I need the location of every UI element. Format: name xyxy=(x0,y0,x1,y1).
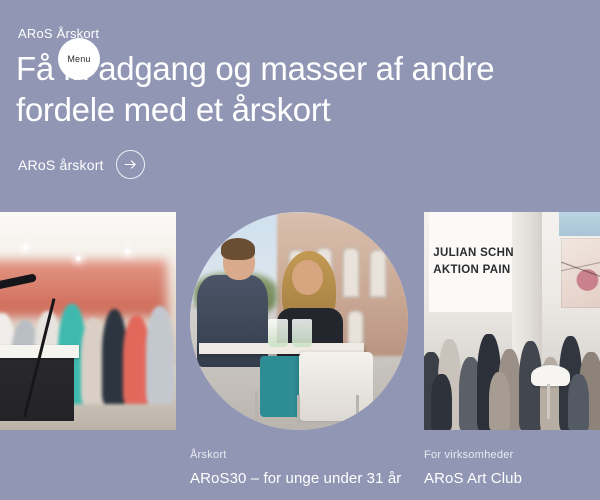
card-title[interactable]: årskort xyxy=(0,472,176,493)
card-strip: årskort xyxy=(0,212,600,500)
card-item[interactable]: Årskort ARoS30 – for unge under 31 år xyxy=(190,212,408,489)
card-caption: årskort xyxy=(0,430,176,493)
card-caption: Årskort ARoS30 – for unge under 31 år xyxy=(190,430,408,489)
page-root: ARoS Årskort Menu Få fri adgang og masse… xyxy=(0,0,600,500)
card-image-gallery-opening[interactable]: JULIAN SCHN AKTION PAIN xyxy=(424,212,600,430)
card-item[interactable]: JULIAN SCHN AKTION PAIN xyxy=(424,212,600,489)
card-image-cafe-couple[interactable] xyxy=(190,212,408,430)
card-title[interactable]: ARoS30 – for unge under 31 år xyxy=(190,468,408,489)
aros-arskort-cta[interactable]: ARoS årskort xyxy=(18,150,145,179)
menu-button-label: Menu xyxy=(67,55,90,64)
card-image-event-crowd[interactable] xyxy=(0,212,176,430)
arrow-right-circle-icon xyxy=(116,150,145,179)
cta-label: ARoS årskort xyxy=(18,157,104,173)
card-category: For virksomheder xyxy=(424,448,600,463)
gallery-wall-text-line1: JULIAN SCHN xyxy=(433,247,514,259)
card-category: Årskort xyxy=(190,448,408,463)
menu-button[interactable]: Menu xyxy=(58,38,100,80)
card-title[interactable]: ARoS Art Club xyxy=(424,468,600,489)
gallery-wall-text-line2: AKTION PAIN xyxy=(433,264,510,276)
card-caption: For virksomheder ARoS Art Club xyxy=(424,430,600,489)
card-item[interactable]: årskort xyxy=(0,212,176,493)
